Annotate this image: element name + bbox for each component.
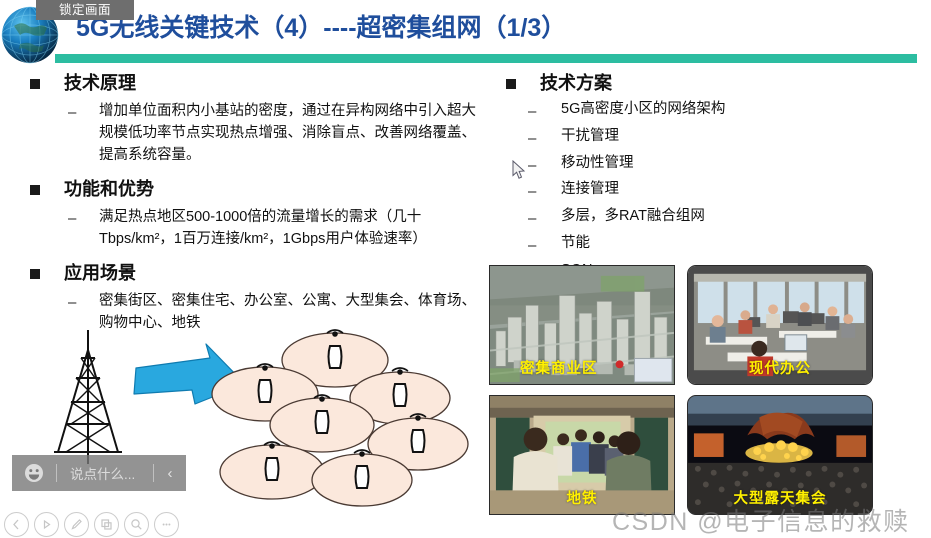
bullet-text: 增加单位面积内小基站的密度，通过在异构网络中引入超大规模低功率节点实现热点增强、… [99, 100, 490, 166]
right-content-column: 技术方案 –5G高密度小区的网络架构 –干扰管理 –移动性管理 –连接管理 –多… [498, 70, 918, 283]
photo-caption: 密集商业区 [490, 357, 674, 378]
bullet-marker-icon [30, 269, 40, 279]
chevron-left-icon[interactable]: ‹ [154, 465, 186, 482]
bullet-text: 连接管理 [561, 179, 619, 201]
section-heading-row: 应用场景 [22, 260, 490, 286]
bullet-row: –节能 [498, 233, 918, 257]
section-heading: 技术原理 [64, 70, 136, 96]
duplicate-button[interactable] [94, 512, 119, 537]
bullet-text: 5G高密度小区的网络架构 [561, 99, 725, 121]
dash-marker-icon: – [68, 102, 79, 124]
presentation-slide: 锁定画面 5G无线关键技术（4）----超密集组网（1/3） 技术原理 – 增加… [0, 0, 931, 538]
dash-marker-icon: – [68, 292, 79, 314]
page-title: 5G无线关键技术（4）----超密集组网（1/3） [76, 8, 566, 44]
comment-input[interactable]: 说点什么... [57, 455, 153, 491]
section-heading: 技术方案 [540, 70, 612, 96]
bullet-marker-icon [506, 79, 516, 89]
dash-marker-icon: – [528, 155, 539, 177]
photo-subway: 地铁 [489, 395, 675, 515]
bullet-row: –5G高密度小区的网络架构 [498, 99, 918, 123]
comment-bar[interactable]: 说点什么... ‹ [12, 455, 186, 491]
zoom-button[interactable] [124, 512, 149, 537]
bullet-text: 干扰管理 [561, 126, 619, 148]
section-heading: 功能和优势 [64, 176, 154, 202]
bullet-row: –连接管理 [498, 179, 918, 203]
bullet-marker-icon [30, 185, 40, 195]
bullet-row: –移动性管理 [498, 153, 918, 177]
dash-marker-icon: – [68, 208, 79, 230]
lock-screen-tooltip: 锁定画面 [36, 0, 134, 20]
macro-tower-icon [54, 330, 122, 464]
annotate-button[interactable] [64, 512, 89, 537]
section-heading-row: 技术原理 [22, 70, 490, 96]
play-button[interactable] [34, 512, 59, 537]
bullet-row: – 增加单位面积内小基站的密度，通过在异构网络中引入超大规模低功率节点实现热点增… [22, 100, 490, 166]
bullet-row: – 满足热点地区500-1000倍的流量增长的需求（几十Tbps/km²，1百万… [22, 206, 490, 250]
dash-marker-icon: – [528, 101, 539, 123]
bullet-text: 多层，多RAT融合组网 [561, 206, 705, 228]
dash-marker-icon: – [528, 128, 539, 150]
bullet-marker-icon [30, 79, 40, 89]
photo-caption: 现代办公 [688, 357, 872, 378]
bullet-text: 节能 [561, 233, 590, 255]
back-button[interactable] [4, 512, 29, 537]
dash-marker-icon: – [528, 181, 539, 203]
bullet-row: –多层，多RAT融合组网 [498, 206, 918, 230]
more-button[interactable] [154, 512, 179, 537]
photo-dense-business-district: 密集商业区 [489, 265, 675, 385]
title-divider [55, 54, 917, 63]
mouse-cursor [512, 160, 526, 185]
photo-caption: 地铁 [490, 487, 674, 508]
scenario-photo-grid: 密集商业区 [489, 265, 887, 523]
small-cell-cluster [212, 330, 468, 506]
left-content-column: 技术原理 – 增加单位面积内小基站的密度，通过在异构网络中引入超大规模低功率节点… [22, 70, 490, 335]
bullet-row: –干扰管理 [498, 126, 918, 150]
player-tool-dock[interactable] [4, 510, 184, 538]
dash-marker-icon: – [528, 208, 539, 230]
section-heading-row: 技术方案 [498, 70, 918, 96]
dash-marker-icon: – [528, 235, 539, 257]
smiley-icon[interactable] [12, 463, 56, 483]
photo-large-outdoor-gathering: 大型露天集会 [687, 395, 873, 515]
photo-modern-office: 现代办公 [687, 265, 873, 385]
section-heading-row: 功能和优势 [22, 176, 490, 202]
section-heading: 应用场景 [64, 260, 136, 286]
bullet-text: 满足热点地区500-1000倍的流量增长的需求（几十Tbps/km²，1百万连接… [99, 206, 490, 250]
photo-caption: 大型露天集会 [688, 487, 872, 508]
bullet-text: 移动性管理 [561, 153, 634, 175]
